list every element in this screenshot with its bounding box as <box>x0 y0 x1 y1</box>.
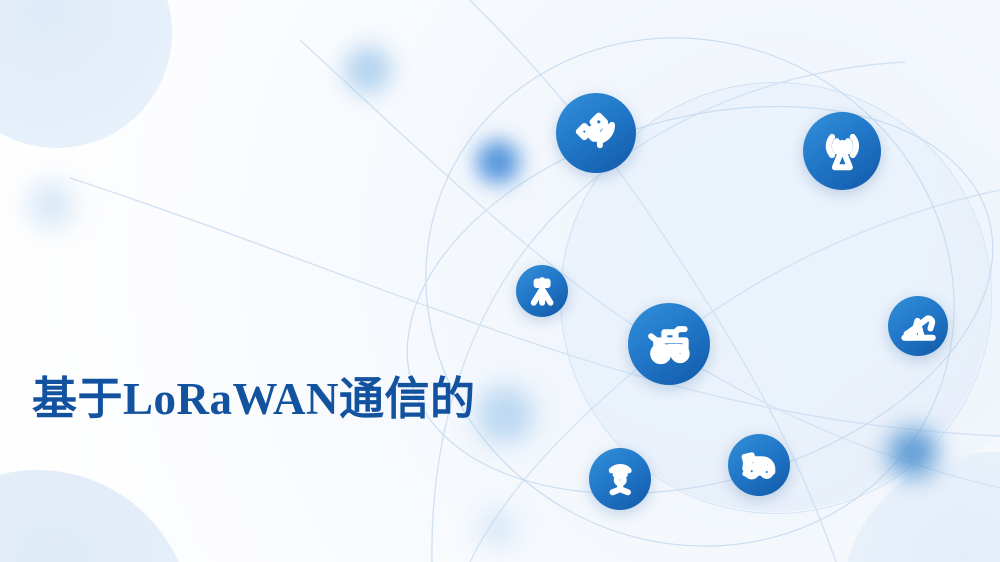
node-radio-tower <box>803 112 881 190</box>
slide-canvas: 基于LoRaWAN通信的 智慧井盖监测解决方案 <box>0 0 1000 562</box>
page-title: 基于LoRaWAN通信的 智慧井盖监测解决方案 <box>32 228 592 562</box>
node-harvester <box>728 434 790 496</box>
tractor-icon <box>644 319 695 370</box>
node-wireless-sensor <box>589 448 651 510</box>
wireless-sensor-icon <box>601 460 639 498</box>
oil-pumpjack-icon <box>899 307 937 345</box>
node-satellite-dish <box>556 93 636 173</box>
satellite-dish-icon <box>573 110 619 156</box>
node-tractor <box>628 303 710 385</box>
title-line-1: 基于LoRaWAN通信的 <box>32 365 592 433</box>
radio-tower-icon <box>819 128 866 175</box>
harvester-icon <box>739 445 779 485</box>
node-oil-pumpjack <box>888 296 948 356</box>
